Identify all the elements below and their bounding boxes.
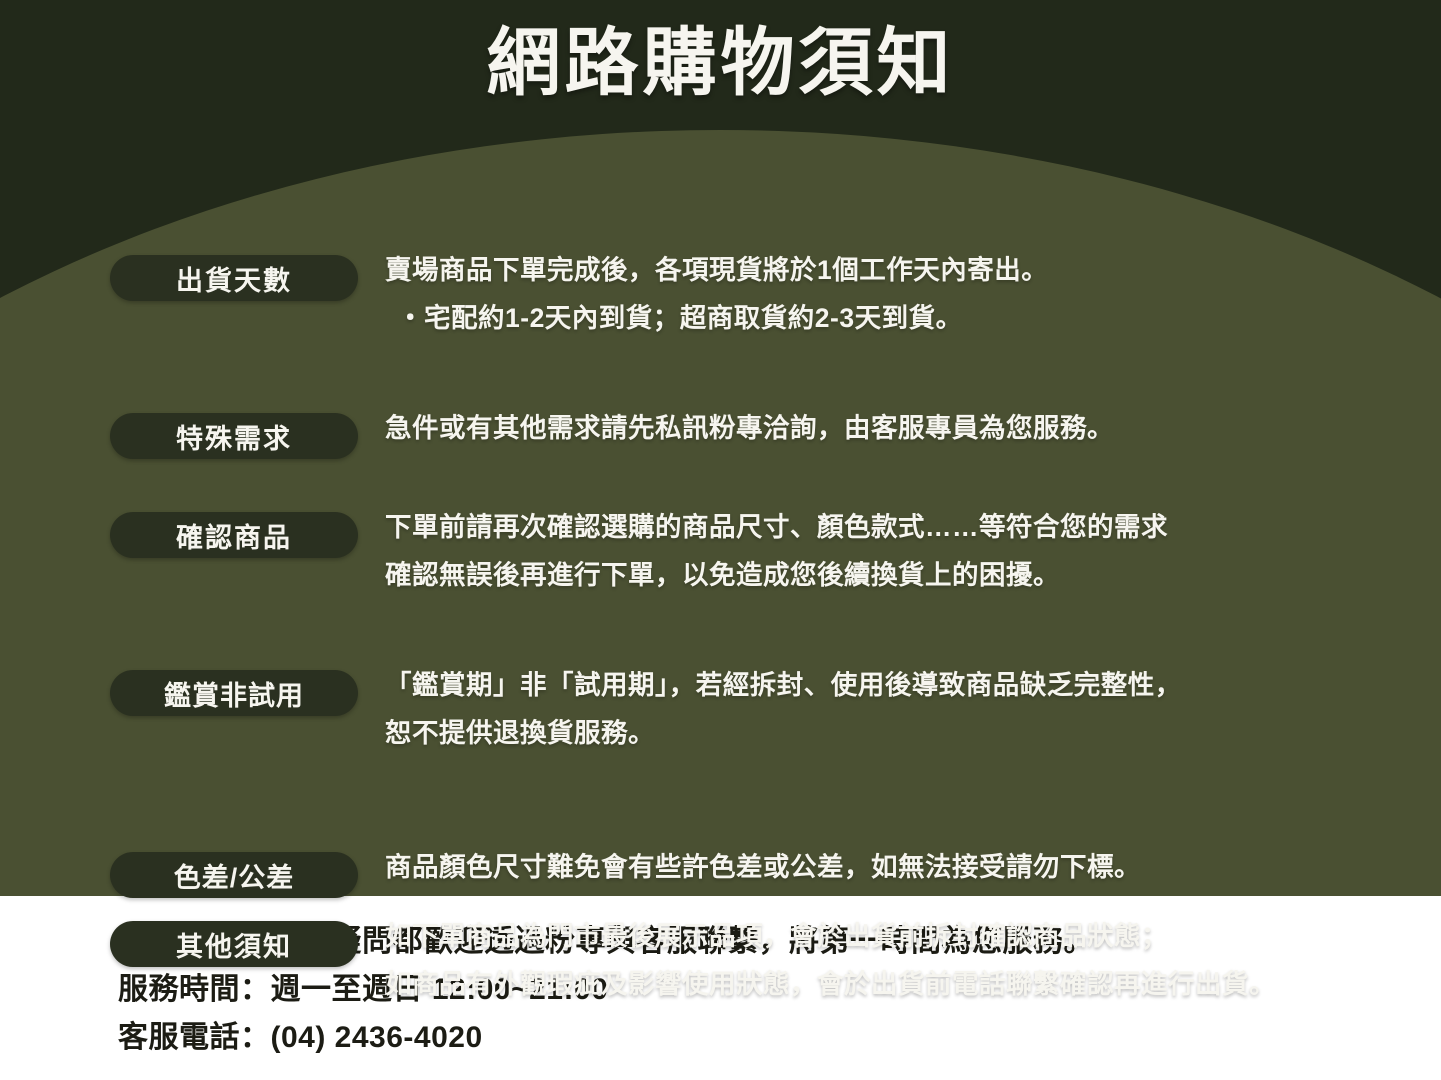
notice-row: 確認商品 下單前請再次確認選購的商品尺寸、顏色款式……等符合您的需求 確認無誤後… (0, 503, 1441, 599)
notice-row: 特殊需求 急件或有其他需求請先私訊粉專洽詢，由客服專員為您服務。 (0, 404, 1441, 459)
notice-line: 恕不提供退換貨服務。 (385, 709, 1441, 757)
notice-row: 鑑賞非試用 「鑑賞期」非「試用期」，若經拆封、使用後導致商品缺乏完整性， 恕不提… (0, 661, 1441, 757)
notice-body: 商品顏色尺寸難免會有些許色差或公差，如無法接受請勿下標。 (385, 843, 1441, 891)
notice-line: 下單前請再次確認選購的商品尺寸、顏色款式……等符合您的需求 (385, 503, 1441, 551)
notice-line: 賣場商品下單完成後，各項現貨將於1個工作天內寄出。 (385, 246, 1441, 294)
notice-row: 色差/公差 商品顏色尺寸難免會有些許色差或公差，如無法接受請勿下標。 (0, 843, 1441, 898)
notice-line: 如下單商品為門市最後展示品項，會於出貨前拆封確認商品狀態； (385, 912, 1441, 960)
notice-row: 其他須知 如下單商品為門市最後展示品項，會於出貨前拆封確認商品狀態； 如商品有外… (0, 912, 1441, 1008)
notice-label-pill: 確認商品 (110, 512, 358, 558)
footer-line-phone: 客服電話：(04) 2436-4020 (118, 1014, 1441, 1062)
notice-label-pill: 鑑賞非試用 (110, 670, 358, 716)
page-title: 網路購物須知 (0, 22, 1441, 103)
notice-row: 出貨天數 賣場商品下單完成後，各項現貨將於1個工作天內寄出。 ・宅配約1-2天內… (0, 246, 1441, 342)
notice-line: 確認無誤後再進行下單，以免造成您後續換貨上的困擾。 (385, 551, 1441, 599)
notice-body: 賣場商品下單完成後，各項現貨將於1個工作天內寄出。 ・宅配約1-2天內到貨；超商… (385, 246, 1441, 342)
notice-label-pill: 其他須知 (110, 921, 358, 967)
notice-section-list: 出貨天數 賣場商品下單完成後，各項現貨將於1個工作天內寄出。 ・宅配約1-2天內… (0, 246, 1441, 1008)
notice-label-pill: 出貨天數 (110, 255, 358, 301)
notice-label-pill: 色差/公差 (110, 852, 358, 898)
notice-line: 商品顏色尺寸難免會有些許色差或公差，如無法接受請勿下標。 (385, 843, 1441, 891)
notice-line: ・宅配約1-2天內到貨；超商取貨約2-3天到貨。 (385, 294, 1441, 342)
notice-body: 如下單商品為門市最後展示品項，會於出貨前拆封確認商品狀態； 如商品有外觀瑕疵及影… (385, 912, 1441, 1008)
notice-line: 「鑑賞期」非「試用期」，若經拆封、使用後導致商品缺乏完整性， (385, 661, 1441, 709)
notice-line: 如商品有外觀瑕疵及影響使用狀態，會於出貨前電話聯繫確認再進行出貨。 (385, 960, 1441, 1008)
notice-label-pill: 特殊需求 (110, 413, 358, 459)
notice-body: 「鑑賞期」非「試用期」，若經拆封、使用後導致商品缺乏完整性， 恕不提供退換貨服務… (385, 661, 1441, 757)
shopping-notice-page: 網路購物須知 出貨天數 賣場商品下單完成後，各項現貨將於1個工作天內寄出。 ・宅… (0, 0, 1441, 1080)
notice-body: 急件或有其他需求請先私訊粉專洽詢，由客服專員為您服務。 (385, 404, 1441, 452)
notice-line: 急件或有其他需求請先私訊粉專洽詢，由客服專員為您服務。 (385, 404, 1441, 452)
notice-body: 下單前請再次確認選購的商品尺寸、顏色款式……等符合您的需求 確認無誤後再進行下單… (385, 503, 1441, 599)
